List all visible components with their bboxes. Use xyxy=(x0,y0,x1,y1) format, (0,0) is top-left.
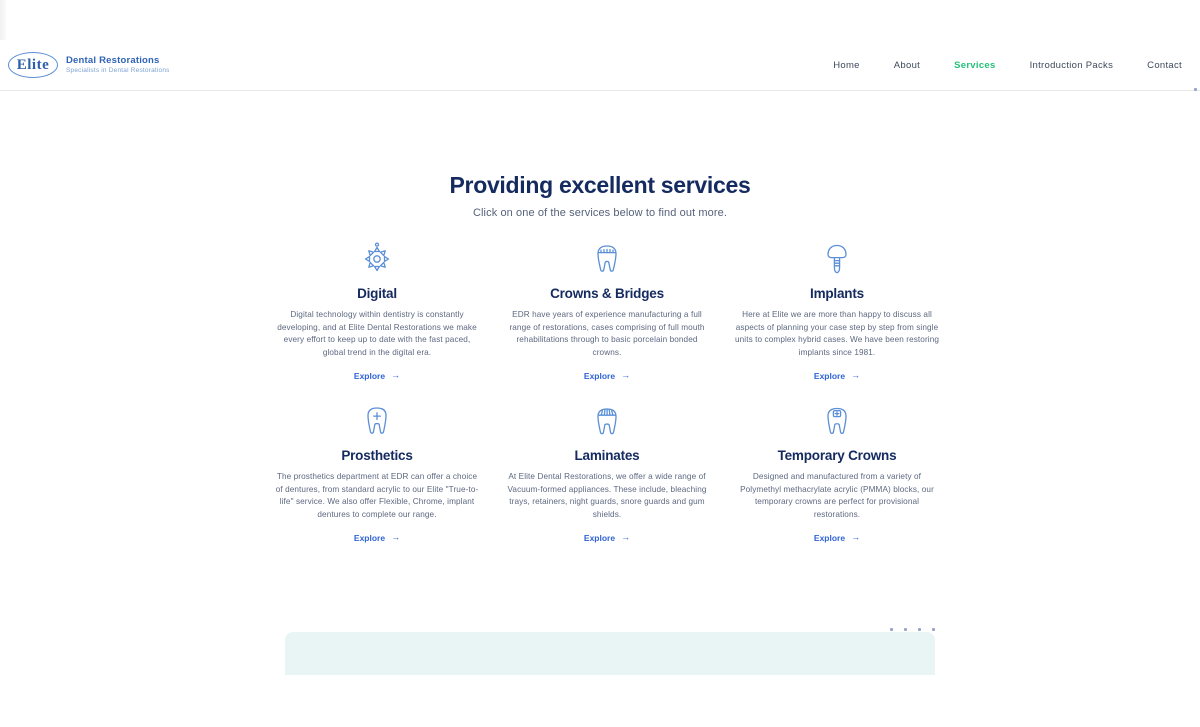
arrow-right-icon: → xyxy=(391,533,400,542)
explore-label: Explore xyxy=(814,533,845,543)
service-title: Temporary Crowns xyxy=(734,448,940,463)
digital-scanner-icon xyxy=(274,238,480,280)
brand-title: Dental Restorations xyxy=(66,55,170,67)
service-title: Prosthetics xyxy=(274,448,480,463)
service-title: Crowns & Bridges xyxy=(504,286,710,301)
service-description: Digital technology within dentistry is c… xyxy=(274,309,480,360)
decorative-dot xyxy=(932,628,935,631)
explore-link-temporary-crowns[interactable]: Explore → xyxy=(814,533,860,543)
brand-subtitle: Specialists in Dental Restorations xyxy=(66,67,170,75)
service-title: Implants xyxy=(734,286,940,301)
nav-item-contact[interactable]: Contact xyxy=(1147,60,1182,71)
explore-label: Explore xyxy=(354,371,385,381)
page-subtitle: Click on one of the services below to fi… xyxy=(0,207,1200,219)
explore-link-laminates[interactable]: Explore → xyxy=(584,533,630,543)
laminate-tooth-icon xyxy=(504,400,710,442)
explore-label: Explore xyxy=(584,371,615,381)
service-card-implants[interactable]: Implants Here at Elite we are more than … xyxy=(722,238,952,384)
prosthetics-tooth-icon xyxy=(274,400,480,442)
temporary-crown-tooth-icon xyxy=(734,400,940,442)
service-description: The prosthetics department at EDR can of… xyxy=(274,471,480,522)
main-navigation: Home About Services Introduction Packs C… xyxy=(833,60,1200,71)
service-card-crowns-bridges[interactable]: Crowns & Bridges EDR have years of exper… xyxy=(492,238,722,384)
page-root: Elite Dental Restorations Specialists in… xyxy=(0,0,1200,727)
service-card-digital[interactable]: Digital Digital technology within dentis… xyxy=(262,238,492,384)
nav-item-about[interactable]: About xyxy=(894,60,920,71)
arrow-right-icon: → xyxy=(621,371,630,380)
explore-label: Explore xyxy=(584,533,615,543)
arrow-right-icon: → xyxy=(851,371,860,380)
service-card-temporary-crowns[interactable]: Temporary Crowns Designed and manufactur… xyxy=(722,400,952,546)
crown-tooth-icon xyxy=(504,238,710,280)
nav-item-introduction-packs[interactable]: Introduction Packs xyxy=(1030,60,1114,71)
service-title: Laminates xyxy=(504,448,710,463)
arrow-right-icon: → xyxy=(621,533,630,542)
service-card-prosthetics[interactable]: Prosthetics The prosthetics department a… xyxy=(262,400,492,546)
brand-text: Dental Restorations Specialists in Denta… xyxy=(66,55,170,75)
explore-link-crowns-bridges[interactable]: Explore → xyxy=(584,371,630,381)
service-description: EDR have years of experience manufacturi… xyxy=(504,309,710,360)
implant-icon xyxy=(734,238,940,280)
service-description: Designed and manufactured from a variety… xyxy=(734,471,940,522)
service-title: Digital xyxy=(274,286,480,301)
service-description: Here at Elite we are more than happy to … xyxy=(734,309,940,360)
page-title: Providing excellent services xyxy=(0,172,1200,199)
arrow-right-icon: → xyxy=(851,533,860,542)
bottom-decorative-panel xyxy=(285,632,935,675)
service-description: At Elite Dental Restorations, we offer a… xyxy=(504,471,710,522)
explore-label: Explore xyxy=(354,533,385,543)
decorative-dot xyxy=(890,628,893,631)
explore-link-digital[interactable]: Explore → xyxy=(354,371,400,381)
explore-link-prosthetics[interactable]: Explore → xyxy=(354,533,400,543)
explore-label: Explore xyxy=(814,371,845,381)
service-card-laminates[interactable]: Laminates At Elite Dental Restorations, … xyxy=(492,400,722,546)
top-whitespace xyxy=(0,0,1200,40)
brand-logo[interactable]: Elite Dental Restorations Specialists in… xyxy=(0,52,170,78)
elite-logo-mark: Elite xyxy=(8,52,58,78)
decorative-dot xyxy=(918,628,921,631)
arrow-right-icon: → xyxy=(391,371,400,380)
explore-link-implants[interactable]: Explore → xyxy=(814,371,860,381)
site-header: Elite Dental Restorations Specialists in… xyxy=(0,40,1200,91)
decorative-dot xyxy=(1194,88,1197,91)
decorative-dot xyxy=(904,628,907,631)
nav-item-services[interactable]: Services xyxy=(954,60,996,71)
nav-item-home[interactable]: Home xyxy=(833,60,860,71)
services-grid: Digital Digital technology within dentis… xyxy=(262,238,952,546)
